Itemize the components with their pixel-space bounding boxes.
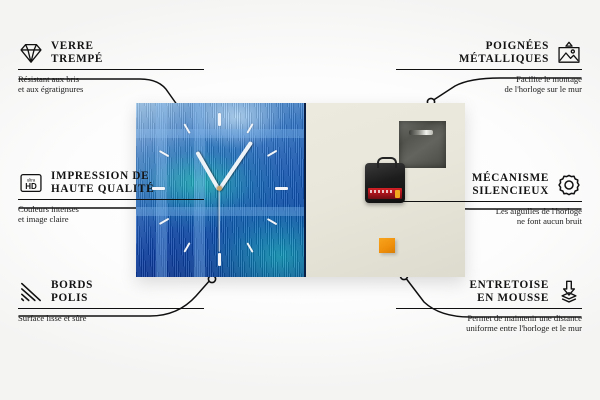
feature-title: MÉCANISME SILENCIEUX bbox=[472, 172, 549, 197]
mechanism-hanging-loop bbox=[377, 157, 397, 168]
hour-marker-12 bbox=[218, 113, 221, 126]
arrow-down-stack-icon bbox=[556, 279, 582, 305]
divider bbox=[18, 199, 204, 200]
feature-header: POIGNÉES MÉTALLIQUES bbox=[396, 40, 582, 66]
feature-description: Résistant aux bris et aux égratignures bbox=[18, 74, 204, 95]
feature-impression-haute-qualite[interactable]: ultra HD IMPRESSION DE HAUTE QUALITÉ Cou… bbox=[18, 170, 204, 225]
feature-title: POIGNÉES MÉTALLIQUES bbox=[459, 40, 549, 65]
feature-title: IMPRESSION DE HAUTE QUALITÉ bbox=[51, 170, 154, 195]
feature-description: Surface lisse et sûre bbox=[18, 313, 204, 323]
clock-hub bbox=[217, 186, 222, 191]
feature-title: VERRE TREMPÉ bbox=[51, 40, 103, 65]
feature-entretoise-en-mousse[interactable]: ENTRETOISE EN MOUSSE Permet de maintenir… bbox=[396, 279, 582, 334]
hour-marker-6 bbox=[218, 253, 221, 266]
framed-picture-hook-icon bbox=[556, 40, 582, 66]
feature-header: VERRE TREMPÉ bbox=[18, 40, 204, 66]
polished-edge-icon bbox=[18, 279, 44, 305]
feature-header: BORDS POLIS bbox=[18, 279, 204, 305]
ultra-hd-badge-icon: ultra HD bbox=[18, 170, 44, 196]
foam-spacer bbox=[379, 238, 395, 253]
feature-description: Facilite le montage de l'horloge sur le … bbox=[396, 74, 582, 95]
minute-hand bbox=[217, 141, 253, 191]
second-hand bbox=[218, 190, 219, 252]
gear-icon bbox=[556, 172, 582, 198]
infographic-canvas: VERRE TREMPÉ Résistant aux bris et aux é… bbox=[0, 0, 600, 400]
divider bbox=[396, 69, 582, 70]
feature-description: Les aiguilles de l'horloge ne font aucun… bbox=[396, 206, 582, 227]
feature-poignees-metalliques[interactable]: POIGNÉES MÉTALLIQUES Facilite le montage… bbox=[396, 40, 582, 95]
feature-description: Couleurs intenses et image claire bbox=[18, 204, 204, 225]
divider bbox=[18, 308, 204, 309]
diamond-icon bbox=[18, 40, 44, 66]
divider bbox=[18, 69, 204, 70]
feature-verre-trempe[interactable]: VERRE TREMPÉ Résistant aux bris et aux é… bbox=[18, 40, 204, 95]
feature-header: ENTRETOISE EN MOUSSE bbox=[396, 279, 582, 305]
feature-title: ENTRETOISE EN MOUSSE bbox=[469, 279, 549, 304]
hour-marker-2 bbox=[267, 150, 278, 158]
divider bbox=[396, 201, 582, 202]
hour-marker-3 bbox=[275, 187, 288, 190]
hanger-slot bbox=[409, 130, 433, 135]
battery-label bbox=[370, 190, 394, 193]
hour-marker-7 bbox=[183, 242, 191, 253]
feature-description: Permet de maintenir une distance uniform… bbox=[396, 313, 582, 334]
hour-marker-4 bbox=[267, 218, 278, 226]
feature-mecanisme-silencieux[interactable]: MÉCANISME SILENCIEUX Les aiguilles de l'… bbox=[396, 172, 582, 227]
pattern-band bbox=[136, 129, 304, 138]
feature-title: BORDS POLIS bbox=[51, 279, 93, 304]
divider bbox=[396, 308, 582, 309]
hour-marker-5 bbox=[246, 242, 254, 253]
feature-bords-polis[interactable]: BORDS POLIS Surface lisse et sûre bbox=[18, 279, 204, 323]
svg-text:HD: HD bbox=[25, 182, 37, 191]
feature-header: MÉCANISME SILENCIEUX bbox=[396, 172, 582, 198]
feature-header: ultra HD IMPRESSION DE HAUTE QUALITÉ bbox=[18, 170, 204, 196]
metal-hanger-plate bbox=[399, 121, 446, 168]
